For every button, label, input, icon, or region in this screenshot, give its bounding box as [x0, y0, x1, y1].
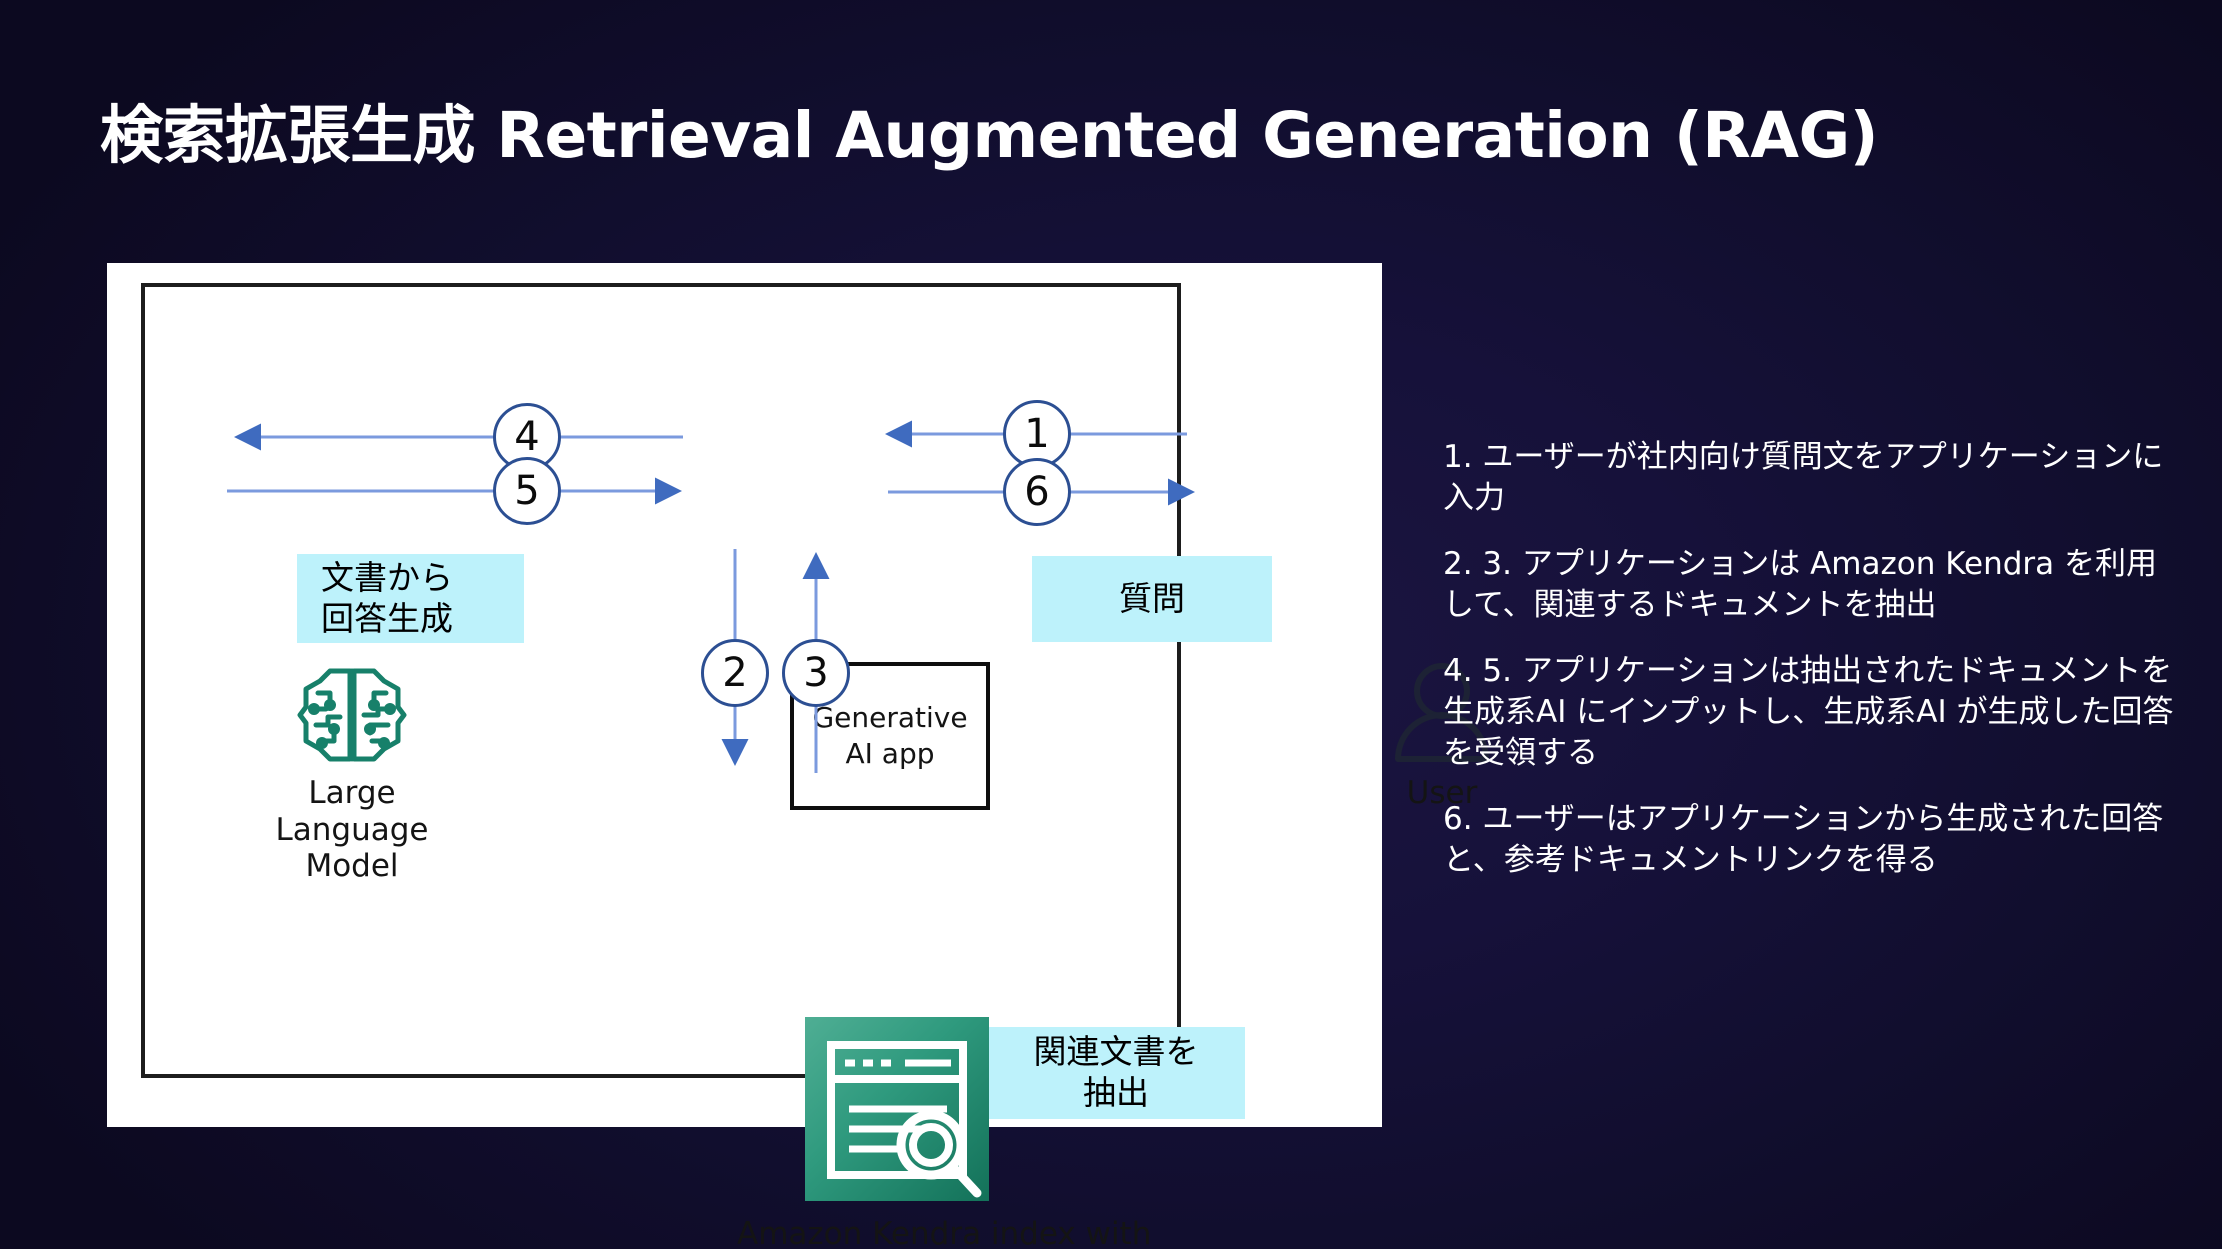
brain-circuit-icon: [296, 663, 408, 767]
callout-related-documents-line2: 抽出: [1083, 1073, 1149, 1114]
page-title: 検索拡張生成 Retrieval Augmented Generation (R…: [100, 104, 1878, 167]
note-item-2: 2. 3. アプリケーションは Amazon Kendra を利用して、関連する…: [1443, 544, 2178, 625]
note-item-4: 6. ユーザーはアプリケーションから生成された回答と、参考ドキュメントリンクを得…: [1443, 799, 2178, 880]
genai-label-line2: AI app: [845, 736, 934, 772]
llm-label-line1: Large: [262, 775, 442, 812]
callout-question: 質問: [1032, 556, 1272, 642]
step-circle-5: 5: [493, 457, 561, 525]
kendra-search-icon: [805, 1017, 989, 1201]
callout-document-answer: 文書から 回答生成: [297, 554, 524, 643]
slide-canvas: 検索拡張生成 Retrieval Augmented Generation (R…: [0, 0, 2222, 1249]
callout-related-documents-line1: 関連文書を: [1034, 1032, 1199, 1073]
note-item-3: 4. 5. アプリケーションは抽出されたドキュメントを生成系AI にインプットし…: [1443, 651, 2178, 773]
genai-label-line1: Generative: [812, 700, 967, 736]
step-circle-2: 2: [701, 639, 769, 707]
step-circle-6: 6: [1003, 458, 1071, 526]
llm-label-line3: Model: [262, 848, 442, 885]
callout-document-answer-line2: 回答生成: [321, 599, 453, 640]
node-large-language-model-label: Large Language Model: [262, 775, 442, 885]
callout-question-label: 質問: [1119, 579, 1185, 620]
kendra-label-line1: Amazon Kendra index with: [737, 1215, 1057, 1249]
node-amazon-kendra: Amazon Kendra index with Enterprise Data…: [737, 1017, 1057, 1249]
figure-panel: 文書から 回答生成 質問 関連文書を 抽出: [107, 263, 1382, 1127]
notes-column: 1. ユーザーが社内向け質問文をアプリケーションに入力 2. 3. アプリケーシ…: [1443, 437, 2178, 880]
node-amazon-kendra-label: Amazon Kendra index with Enterprise Data…: [737, 1215, 1057, 1249]
note-item-1: 1. ユーザーが社内向け質問文をアプリケーションに入力: [1443, 437, 2178, 518]
node-large-language-model: Large Language Model: [262, 663, 442, 885]
llm-label-line2: Language: [262, 812, 442, 849]
step-circle-3: 3: [782, 639, 850, 707]
callout-document-answer-line1: 文書から: [321, 558, 453, 599]
